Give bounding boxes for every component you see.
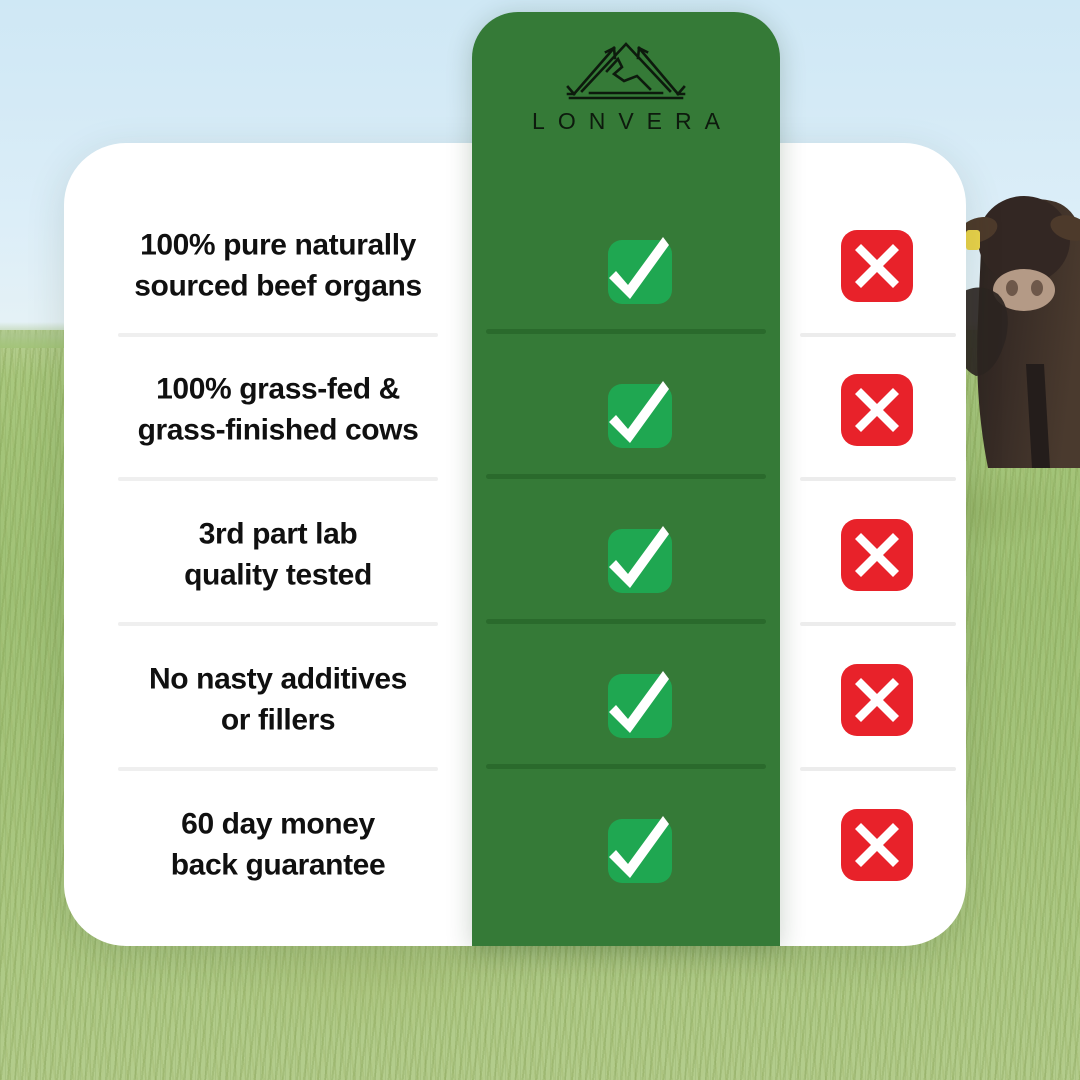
row-divider-left	[118, 333, 438, 337]
row-divider-right	[800, 767, 956, 771]
check-mark-icon	[583, 367, 669, 453]
row-divider-left	[118, 767, 438, 771]
cross-mark-icon	[841, 664, 913, 736]
cross-mark-icon	[841, 374, 913, 446]
brand-wordmark: LONVERA	[472, 108, 780, 135]
check-mark-icon	[583, 802, 669, 888]
theirs-cell	[812, 374, 942, 446]
feature-label-line2: quality tested	[82, 555, 474, 596]
comparison-row: 100% grass-fed & grass-finished cows	[0, 338, 1080, 482]
feature-label-line1: No nasty additives	[82, 660, 474, 701]
comparison-row: 100% pure naturally sourced beef organs	[0, 194, 1080, 338]
brand-logo: LONVERA	[472, 34, 780, 135]
ours-cell	[561, 657, 691, 743]
ours-cell	[561, 223, 691, 309]
feature-label-line1: 100% grass-fed &	[82, 370, 474, 411]
ours-cell	[561, 512, 691, 598]
feature-label-line1: 100% pure naturally	[82, 226, 474, 267]
check-mark-icon	[583, 657, 669, 743]
feature-label-line2: back guarantee	[82, 845, 474, 886]
feature-label-line2: sourced beef organs	[82, 266, 474, 307]
cross-mark-icon	[841, 230, 913, 302]
feature-label: 100% grass-fed & grass-finished cows	[82, 370, 474, 451]
theirs-cell	[812, 664, 942, 736]
feature-label: 3rd part lab quality tested	[82, 515, 474, 596]
theirs-cell	[812, 519, 942, 591]
cross-mark-icon	[841, 809, 913, 881]
feature-label-line1: 60 day money	[82, 805, 474, 846]
feature-label: No nasty additives or fillers	[82, 660, 474, 741]
row-divider-right	[800, 622, 956, 626]
feature-label-line2: or fillers	[82, 700, 474, 741]
row-divider-right	[800, 333, 956, 337]
check-mark-icon	[583, 223, 669, 309]
row-divider-right	[800, 477, 956, 481]
cross-mark-icon	[841, 519, 913, 591]
feature-label-line1: 3rd part lab	[82, 515, 474, 556]
comparison-row: 60 day money back guarantee	[0, 773, 1080, 917]
comparison-infographic: LONVERA 100% pure naturally sourced beef…	[0, 0, 1080, 1080]
theirs-cell	[812, 230, 942, 302]
feature-label: 100% pure naturally sourced beef organs	[82, 226, 474, 307]
ours-cell	[561, 367, 691, 453]
ours-cell	[561, 802, 691, 888]
mountain-arrows-icon	[562, 34, 690, 102]
row-divider-left	[118, 477, 438, 481]
comparison-row: No nasty additives or fillers	[0, 628, 1080, 772]
check-mark-icon	[583, 512, 669, 598]
comparison-row: 3rd part lab quality tested	[0, 483, 1080, 627]
theirs-cell	[812, 809, 942, 881]
feature-label-line2: grass-finished cows	[82, 410, 474, 451]
feature-label: 60 day money back guarantee	[82, 805, 474, 886]
row-divider-left	[118, 622, 438, 626]
